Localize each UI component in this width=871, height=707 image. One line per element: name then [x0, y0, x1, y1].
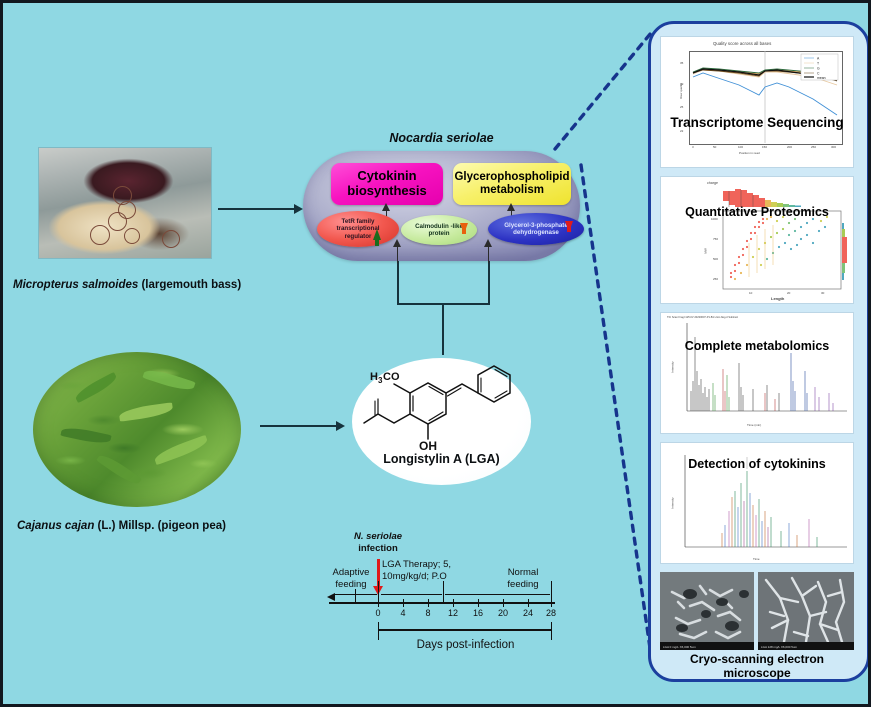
card-title-transcriptome: Transcriptome Sequencing — [661, 115, 853, 130]
plant-caption: Cajanus cajan (L.) Millsp. (pigeon pea) — [17, 520, 226, 532]
arrow-fish-to-bacterium-line — [218, 208, 296, 210]
timeline-tick-4 — [403, 599, 404, 607]
timeline-label-16: 16 — [470, 608, 486, 618]
dpi-axis-label: Days post-infection — [393, 638, 538, 652]
sem-micrograph-right: LGA 128 mg/L X6,000 5um — [758, 572, 854, 650]
svg-text:H: H — [370, 371, 378, 383]
pathway-cytokinin-biosynthesis: Cytokinin biosynthesis — [331, 163, 443, 205]
up-regulation-arrow-tetr — [373, 229, 381, 240]
chart-proteomics-scatter — [661, 177, 854, 304]
connector-tetr-to-cytokinin-head — [382, 203, 390, 211]
card-title-cryo-sem: Cryo-scanning electron microscope — [660, 652, 854, 680]
chart1-xlabel: Position in read — [739, 151, 760, 155]
timeline-axis — [329, 602, 555, 604]
gene-tetr-label: TetR family transcriptional regulator — [325, 218, 391, 240]
dpi-left-cap — [378, 622, 379, 640]
fish-caption-common: (largemouth bass) — [138, 279, 241, 291]
results-panel: Quality score across all bases — [648, 21, 870, 682]
chart4-ylabel: Intensity — [671, 497, 675, 508]
svg-text:G: G — [817, 67, 820, 71]
longistylin-a-structure: H 3 CO OH — [352, 363, 531, 458]
timeline-label-20: 20 — [495, 608, 511, 618]
chart-metabolomics-chromatogram — [679, 323, 849, 423]
plant-photo — [33, 352, 241, 507]
timeline-label-4: 4 — [395, 608, 411, 618]
connector-cell-bottom-left-head — [393, 239, 401, 247]
graphical-abstract: Micropterus salmoides (largemouth bass) … — [0, 0, 871, 707]
card-title-metabolomics: Complete metabolomics — [661, 339, 853, 353]
timeline-label-0: 0 — [370, 608, 386, 618]
plant-caption-species: Cajanus cajan — [17, 520, 94, 532]
chart2-xlabel: Length — [771, 296, 784, 301]
timeline-tick-20 — [503, 599, 504, 607]
plant-caption-common: (L.) Millsp. (pigeon pea) — [94, 520, 226, 532]
arrow-fish-to-bacterium-head — [294, 204, 303, 214]
svg-text:LGA 0 mg/L X6,000 5um: LGA 0 mg/L X6,000 5um — [663, 645, 696, 649]
timeline-label-8: 8 — [420, 608, 436, 618]
fish-caption-species: Micropterus salmoides — [13, 279, 138, 291]
gene-tetr-family-transcriptional-regulator: TetR family transcriptional regulator — [317, 211, 399, 247]
card-quantitative-proteomics[interactable]: charge — [660, 176, 854, 304]
bracket-stem — [442, 303, 444, 355]
chart2-ylabel: MW — [704, 248, 708, 253]
timeline-infection-label: N. seriolae infection — [333, 531, 423, 554]
timeline-span-adaptive — [333, 594, 377, 595]
chart3-xlabel: Time (min) — [747, 423, 761, 427]
svg-text:OH: OH — [419, 439, 437, 453]
timeline-label-12: 12 — [445, 608, 461, 618]
connector-cell-bottom-left — [397, 245, 398, 263]
bracket-left-riser — [397, 261, 399, 304]
chart1-title: Quality score across all bases — [713, 41, 771, 46]
card-cryo-sem[interactable]: LGA 0 mg/L X6,000 5um LGA 128 mg/L X6,00… — [660, 572, 854, 672]
svg-text:mean: mean — [817, 76, 826, 80]
timeline-tick-8 — [428, 599, 429, 607]
timeline-sep-day10 — [443, 581, 444, 603]
timeline-span-therapy — [381, 594, 442, 595]
card-title-cytokinins: Detection of cytokinins — [661, 457, 853, 471]
dashed-connectors — [523, 23, 663, 683]
chart4-xlabel: Time — [753, 557, 760, 561]
card-complete-metabolomics[interactable]: TIC Scan Frag=125.0V 20230607-P1-B1 LGA-… — [660, 312, 854, 434]
timeline-infection-word: infection — [358, 543, 398, 554]
timeline-phase-adaptive-feeding: Adaptive feeding — [323, 567, 379, 590]
fish-photo — [38, 147, 212, 259]
timeline-sep-pre — [355, 589, 356, 603]
timeline-phase-lga-therapy: LGA Therapy; 5, 10mg/kg/d; P.O — [382, 559, 468, 582]
fish-caption: Micropterus salmoides (largemouth bass) — [13, 279, 241, 291]
bracket-right-riser — [488, 261, 490, 304]
timeline-tick-0 — [378, 599, 379, 607]
down-regulation-arrow-calmodulin — [460, 223, 468, 234]
svg-text:T: T — [817, 62, 819, 66]
connector-g3p-to-glycerophospholipid-head — [507, 203, 515, 211]
timeline-infection-species: N. seriolae — [354, 531, 402, 542]
card-title-proteomics: Quantitative Proteomics — [661, 205, 853, 219]
arrow-plant-to-lga-head — [336, 421, 345, 431]
lga-label: Longistylin A (LGA) — [352, 452, 531, 466]
svg-text:LGA 128 mg/L X6,000 5um: LGA 128 mg/L X6,000 5um — [761, 645, 798, 649]
arrow-plant-to-lga-line — [260, 425, 338, 427]
card-transcriptome-sequencing[interactable]: Quality score across all bases — [660, 36, 854, 168]
connector-cell-bottom-right-head — [484, 239, 492, 247]
sem-micrograph-left: LGA 0 mg/L X6,000 5um — [660, 572, 754, 650]
timeline-tick-16 — [478, 599, 479, 607]
card-detection-of-cytokinins[interactable]: Intensity Time Detection of cytokinins — [660, 442, 854, 564]
svg-text:CO: CO — [383, 371, 400, 383]
timeline-tick-12 — [453, 599, 454, 607]
connector-cell-bottom-right — [488, 245, 489, 263]
chart3-ylabel: Intensity — [671, 361, 675, 372]
